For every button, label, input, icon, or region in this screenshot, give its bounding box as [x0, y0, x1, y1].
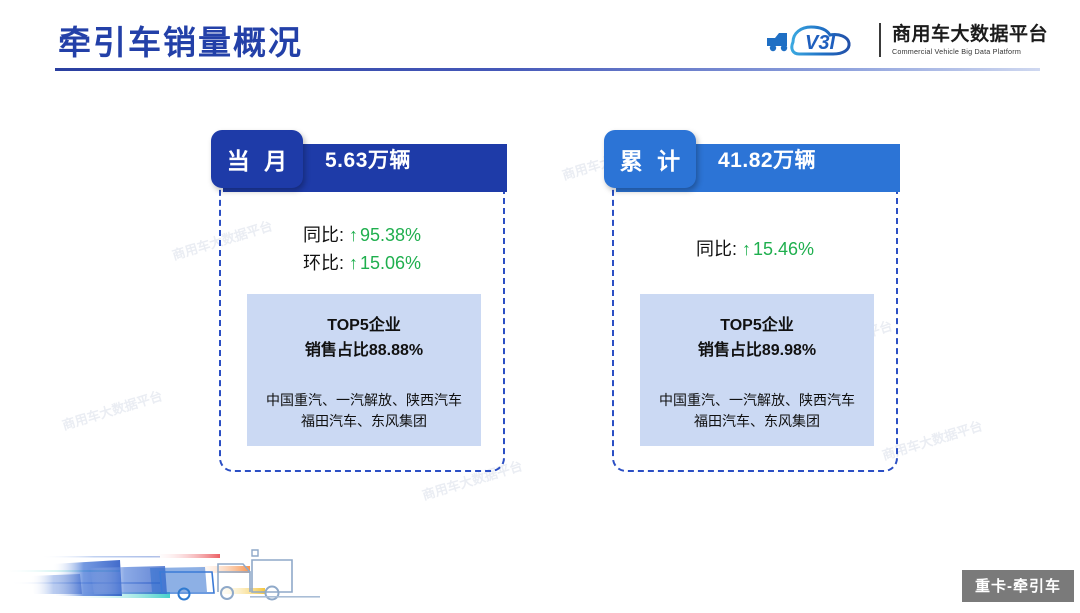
watermark: 商用车大数据平台 [59, 385, 164, 434]
metric-label: 同比: [696, 239, 737, 259]
top5-companies-line1: 中国重汽、一汽解放、陕西汽车 [266, 390, 462, 412]
card-headline-month: 5.63万辆 [325, 130, 411, 188]
stat-card-cumulative: 累 计 41.82万辆 同比:↑15.46% TOP5企业 销售占比89.98%… [612, 152, 898, 472]
up-arrow-icon: ↑ [349, 225, 358, 245]
logo-name-cn: 商用车大数据平台 [892, 25, 1048, 44]
v3i-cloud-truck-icon: V3I [763, 20, 871, 60]
logo-text-block: 商用车大数据平台 Commercial Vehicle Big Data Pla… [892, 25, 1048, 55]
metric-value: 15.46% [753, 239, 814, 259]
top5-companies-line1: 中国重汽、一汽解放、陕西汽车 [659, 390, 855, 412]
stat-card-month: 当 月 5.63万辆 同比:↑95.38% 环比:↑15.06% TOP5企业 … [219, 152, 505, 472]
metric-value: 15.06% [360, 253, 421, 273]
top5-info-box-cumulative: TOP5企业 销售占比89.98% 中国重汽、一汽解放、陕西汽车 福田汽车、东风… [640, 294, 874, 446]
footer-category-tag: 重卡-牵引车 [962, 570, 1074, 602]
metric-value: 95.38% [360, 225, 421, 245]
brand-logo: V3I 商用车大数据平台 Commercial Vehicle Big Data… [763, 18, 1048, 62]
truck-motion-graphic [0, 510, 330, 608]
logo-name-en: Commercial Vehicle Big Data Platform [892, 48, 1048, 55]
top5-companies-line2: 福田汽车、东风集团 [694, 411, 820, 433]
svg-text:V3I: V3I [805, 32, 835, 54]
top5-share: 销售占比89.98% [698, 339, 816, 364]
up-arrow-icon: ↑ [742, 239, 751, 259]
card-metrics-month: 同比:↑95.38% 环比:↑15.06% [221, 206, 503, 292]
top5-companies-line2: 福田汽车、东风集团 [301, 411, 427, 433]
metric-label: 环比: [303, 253, 344, 273]
title-underline-rule [55, 68, 1040, 71]
metric-row-yoy: 同比:↑15.46% [696, 236, 814, 262]
card-badge-month: 当 月 [211, 130, 303, 188]
card-badge-cumulative: 累 计 [604, 130, 696, 188]
logo-divider [879, 23, 881, 57]
metric-row-mom: 环比:↑15.06% [303, 250, 421, 276]
top5-share: 销售占比88.88% [305, 339, 423, 364]
card-metrics-cumulative: 同比:↑15.46% [614, 206, 896, 292]
top5-title: TOP5企业 [327, 314, 401, 339]
top5-info-box-month: TOP5企业 销售占比88.88% 中国重汽、一汽解放、陕西汽车 福田汽车、东风… [247, 294, 481, 446]
up-arrow-icon: ↑ [349, 253, 358, 273]
card-headline-cumulative: 41.82万辆 [718, 130, 816, 188]
top5-title: TOP5企业 [720, 314, 794, 339]
metric-row-yoy: 同比:↑95.38% [303, 222, 421, 248]
metric-label: 同比: [303, 225, 344, 245]
page-title: 牵引车销量概况 [58, 16, 303, 64]
